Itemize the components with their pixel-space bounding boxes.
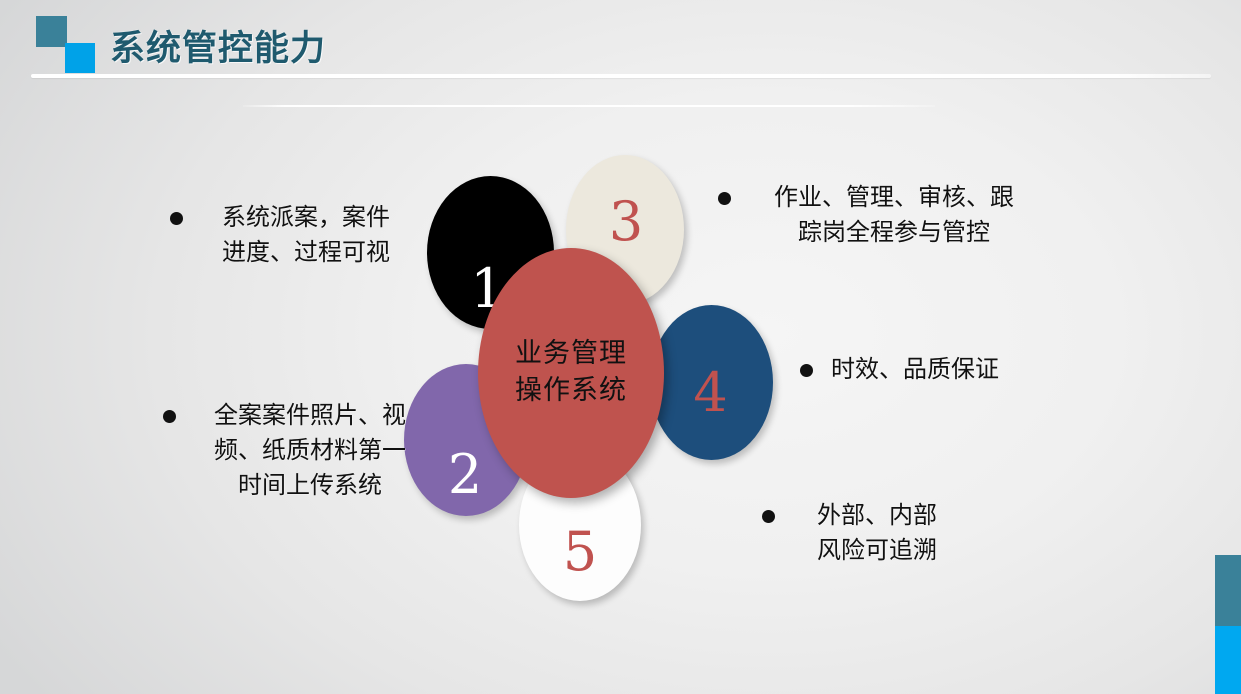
bullet-dot-icon xyxy=(718,192,731,205)
center-label-line-1: 业务管理 xyxy=(515,336,627,373)
bullet-line: 全案案件照片、视 xyxy=(194,398,426,433)
bullet-item-5: 外部、内部 风险可追溯 xyxy=(762,498,1022,568)
bullet-line: 时间上传系统 xyxy=(194,468,426,503)
petal-diagram: 1 3 2 4 5 业务管理 操作系统 xyxy=(0,0,1241,694)
petal-ellipse-4[interactable]: 4 xyxy=(650,305,773,460)
bullet-item-4: 时效、品质保证 xyxy=(800,352,1060,387)
bullet-line: 风险可追溯 xyxy=(793,533,961,568)
bullet-dot-icon xyxy=(762,510,775,523)
bullet-dot-icon xyxy=(800,364,813,377)
bullet-text-4: 时效、品质保证 xyxy=(831,352,999,387)
petal-number-3: 3 xyxy=(609,195,643,249)
bullet-item-3: 作业、管理、审核、跟 踪岗全程参与管控 xyxy=(718,180,1048,250)
bullet-text-1: 系统派案，案件 进度、过程可视 xyxy=(201,200,411,270)
slide-canvas: 系统管控能力 1 3 2 4 5 业务管理 操作系统 系统派案，案件 进度、过程… xyxy=(0,0,1241,694)
bullet-line: 踪岗全程参与管控 xyxy=(749,215,1039,250)
petal-number-5: 5 xyxy=(563,525,597,579)
center-label-line-2: 操作系统 xyxy=(515,373,627,410)
bullet-line: 作业、管理、审核、跟 xyxy=(749,180,1039,215)
petal-number-4: 4 xyxy=(693,366,727,420)
bullet-text-5: 外部、内部 风险可追溯 xyxy=(793,498,961,568)
bullet-line: 进度、过程可视 xyxy=(201,235,411,270)
center-ellipse[interactable]: 业务管理 操作系统 xyxy=(478,248,664,498)
bullet-item-1: 系统派案，案件 进度、过程可视 xyxy=(170,200,420,270)
bullet-text-2: 全案案件照片、视 频、纸质材料第一 时间上传系统 xyxy=(194,398,426,502)
petal-number-2: 2 xyxy=(448,448,482,502)
bullet-line: 频、纸质材料第一 xyxy=(194,433,426,468)
bullet-dot-icon xyxy=(163,410,176,423)
bullet-text-3: 作业、管理、审核、跟 踪岗全程参与管控 xyxy=(749,180,1039,250)
corner-bar-teal xyxy=(1215,555,1241,626)
bullet-item-2: 全案案件照片、视 频、纸质材料第一 时间上传系统 xyxy=(163,398,433,502)
bullet-line: 时效、品质保证 xyxy=(831,352,999,387)
bullet-line: 系统派案，案件 xyxy=(201,200,411,235)
bullet-dot-icon xyxy=(170,212,183,225)
bullet-line: 外部、内部 xyxy=(793,498,961,533)
corner-accent xyxy=(1215,555,1241,694)
corner-bar-blue xyxy=(1215,626,1241,694)
